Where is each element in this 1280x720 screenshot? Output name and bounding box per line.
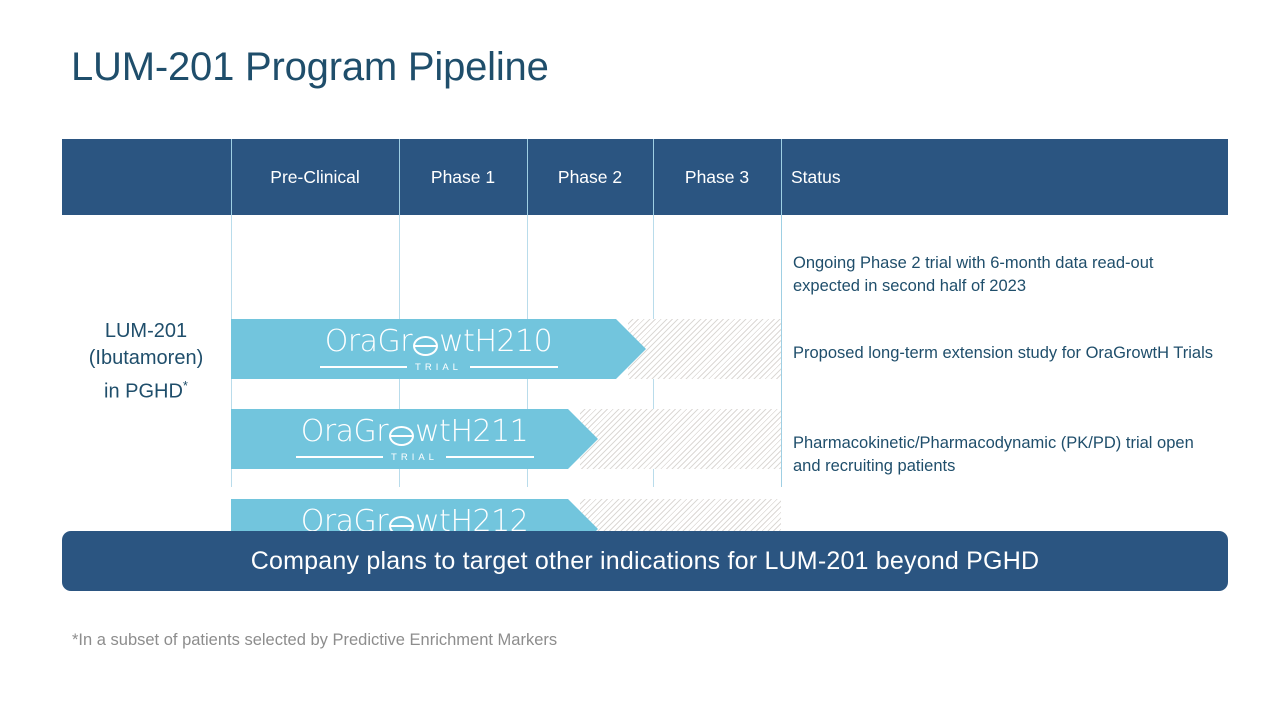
status-text-row-1: Ongoing Phase 2 trial with 6-month data … (793, 252, 1223, 298)
table-header-row: Pre-Clinical Phase 1 Phase 2 Phase 3 Sta… (62, 139, 1228, 215)
program-row-label: LUM-201 (Ibutamoren) in PGHD* (62, 318, 230, 406)
trial-bar-shape-211 (231, 409, 598, 469)
trial-bar-shape-210 (231, 319, 646, 379)
callout-banner-text: Company plans to target other indication… (251, 547, 1039, 576)
column-header-phase3: Phase 3 (653, 139, 781, 215)
column-header-status: Status (781, 139, 1228, 215)
row-2-remaining-hatch (580, 409, 781, 469)
trial-bar-oragrowth211[interactable]: OraGr wtH 211 TRIAL (231, 409, 598, 469)
callout-banner: Company plans to target other indication… (62, 531, 1228, 591)
footnote-marker: * (183, 378, 188, 393)
program-label-line3: in PGHD (104, 381, 183, 403)
program-label-line1: LUM-201 (105, 320, 187, 342)
footnote-text: *In a subset of patients selected by Pre… (72, 629, 557, 651)
status-text-row-2: Proposed long-term extension study for O… (793, 342, 1223, 365)
column-header-program (62, 139, 231, 215)
column-header-phase2: Phase 2 (527, 139, 653, 215)
body-divider-status (781, 215, 782, 487)
status-text-row-3: Pharmacokinetic/Pharmacodynamic (PK/PD) … (793, 432, 1223, 478)
row-1-remaining-hatch (628, 319, 781, 379)
slide-canvas: LUM-201 Program Pipeline Pre-Clinical Ph… (0, 0, 1280, 720)
column-header-preclinical: Pre-Clinical (231, 139, 399, 215)
trial-bar-oragrowth210[interactable]: OraGr wtH 210 TRIAL (231, 319, 646, 379)
page-title: LUM-201 Program Pipeline (71, 41, 549, 93)
program-label-line2: (Ibutamoren) (89, 347, 204, 369)
column-header-phase1: Phase 1 (399, 139, 527, 215)
